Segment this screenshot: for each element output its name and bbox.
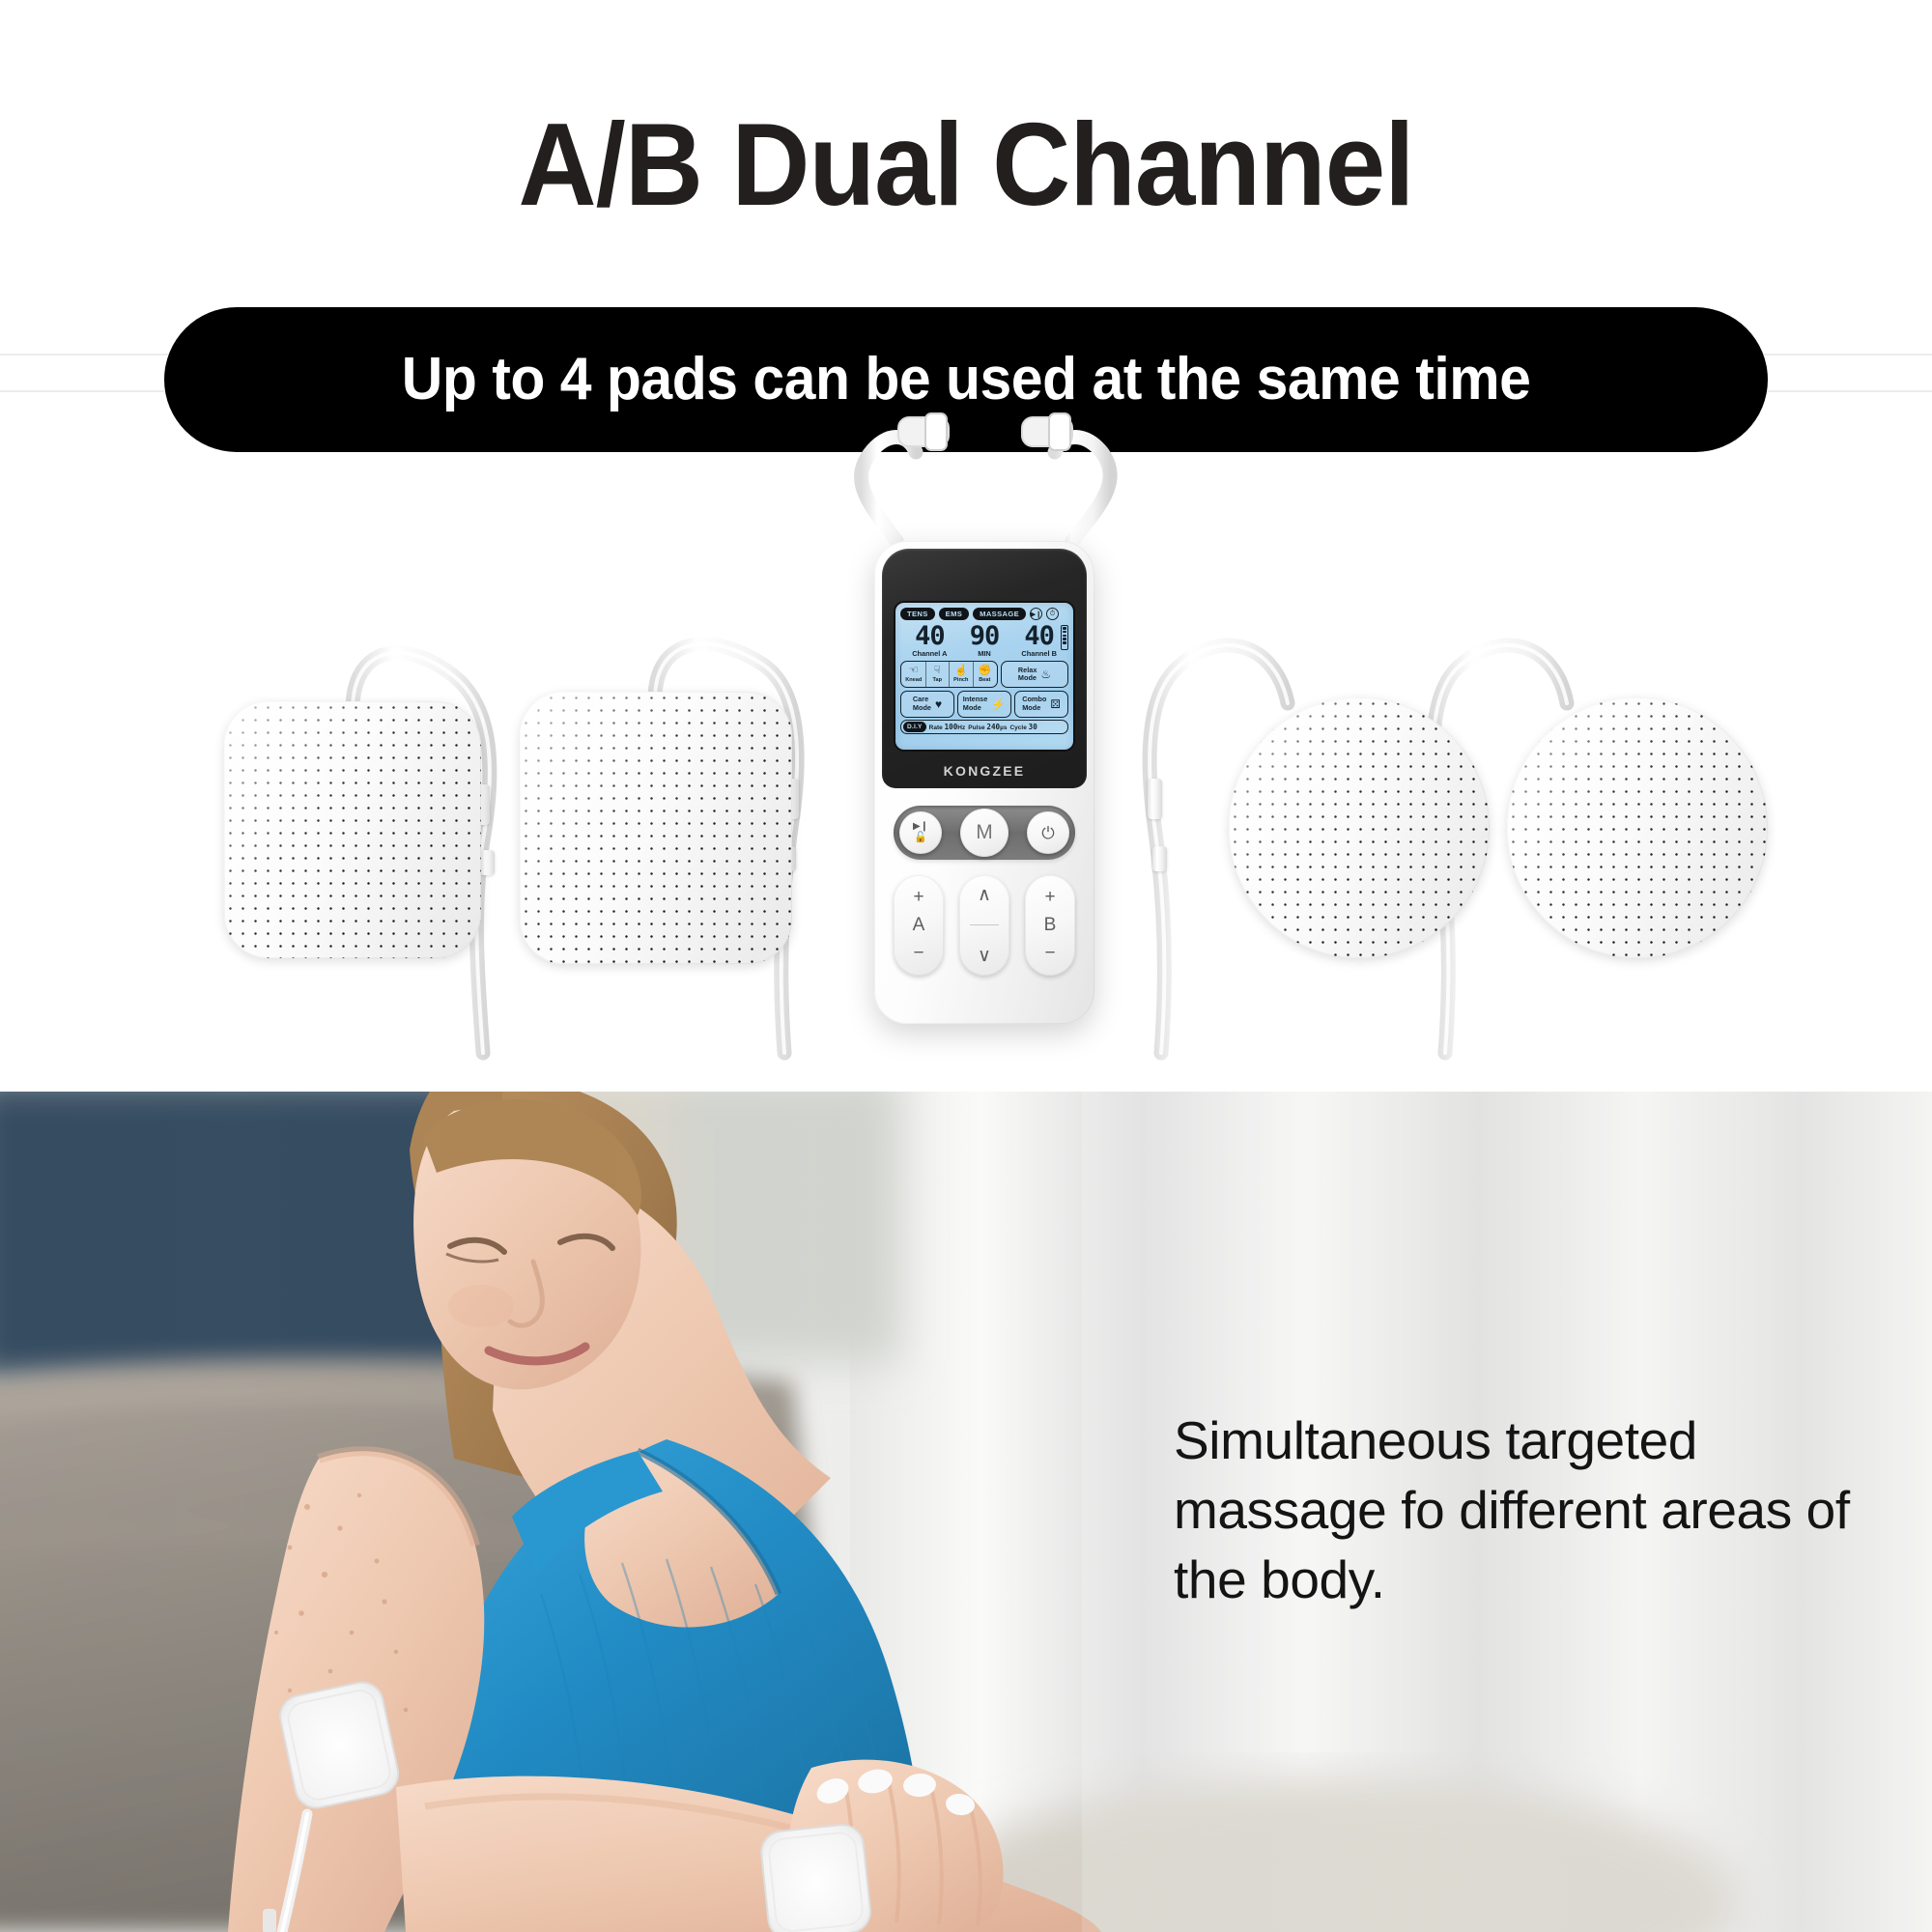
lcd-mode-row-2: Care Mode ♥ Intense Mode ⚡ (900, 691, 1068, 718)
channel-a-letter: A (913, 915, 925, 936)
lcd-mode-row: TENS EMS MASSAGE ▶❙ ⏱ (900, 608, 1068, 620)
tap-icon: ☟ (934, 666, 941, 676)
top-product-section: A/B Dual Channel Up to 4 pads can be use… (0, 0, 1932, 1092)
lcd-mode-row-1: ☜ Knead ☟ Tap ☝ Pinch (900, 661, 1068, 688)
channel-b-letter: B (1044, 915, 1057, 936)
wire-ferrule-2 (480, 850, 495, 875)
relax-mode-icon: ♨ (1040, 668, 1051, 680)
photo-caption: Simultaneous targeted massage fo differe… (1174, 1406, 1869, 1614)
combo-mode-label: Combo Mode (1022, 696, 1046, 712)
wire-ferrule-5 (1148, 779, 1162, 819)
heart-icon: ♥ (935, 698, 942, 710)
massage-type-knead: ☜ Knead (902, 662, 926, 687)
beat-label: Beat (979, 677, 990, 683)
lcd-mode-massage: MASSAGE (973, 608, 1026, 620)
diy-chip: D.I.Y (903, 722, 926, 732)
relax-mode-label: Relax Mode (1018, 667, 1037, 683)
readout-channel-b: 40 Channel B (1011, 623, 1066, 659)
power-icon: ⏻ (1041, 825, 1054, 841)
pulse-status: Pulse 240µs (968, 723, 1007, 731)
pulse-value: 240 (986, 723, 1000, 731)
intense-mode-box: Intense Mode ⚡ (957, 691, 1011, 718)
brand-logo: KONGZEE (882, 763, 1087, 779)
channel-a-plus[interactable]: + (913, 887, 923, 908)
play-pause-lock-button[interactable]: ▶❙ 🔓 (899, 811, 942, 854)
combo-mode-box: Combo Mode ⚄ (1014, 691, 1068, 718)
timer-icon: ⏱ (1046, 608, 1059, 620)
combo-circles-icon: ⚄ (1050, 698, 1060, 710)
rate-unit: Hz (957, 724, 965, 731)
channel-b-plus[interactable]: + (1044, 887, 1055, 908)
channel-b-stepper[interactable]: + B − (1025, 875, 1075, 976)
readout-channel-a: 40 Channel A (902, 623, 957, 659)
nav-divider (970, 924, 999, 925)
device-channel-button-row: + A − ∧ ∨ + B − (894, 875, 1075, 976)
beat-icon: ✊ (978, 666, 991, 676)
rate-label: Rate (929, 724, 943, 731)
channel-b-minus[interactable]: − (1044, 943, 1055, 964)
electrode-pad-square-2 (520, 692, 792, 964)
channel-a-minus[interactable]: − (913, 943, 923, 964)
knead-icon: ☜ (909, 666, 919, 676)
device-primary-button-bar: ▶❙ 🔓 M ⏻ (894, 806, 1075, 860)
electrode-pad-round-1 (1229, 697, 1490, 958)
massage-type-pinch: ☝ Pinch (950, 662, 974, 687)
nav-down-button[interactable]: ∨ (978, 945, 991, 967)
channel-a-stepper[interactable]: + A − (894, 875, 944, 976)
tens-unit-device: TENS EMS MASSAGE ▶❙ ⏱ 40 Channel A 90 (874, 541, 1094, 1024)
intense-mode-label: Intense Mode (963, 696, 988, 712)
cycle-value: 30 (1029, 723, 1037, 731)
lightning-icon: ⚡ (991, 698, 1006, 710)
relax-mode-line2: Mode (1018, 673, 1037, 682)
pulse-label: Pulse (968, 724, 984, 731)
knead-label: Knead (905, 677, 922, 683)
play-pause-icon: ▶❙ (1030, 608, 1042, 620)
wire-ferrule-6 (1152, 846, 1167, 871)
channel-a-label: Channel A (902, 649, 957, 659)
mode-button[interactable]: M (960, 809, 1009, 857)
lcd-mode-tens: TENS (900, 608, 935, 620)
lcd-mode-grid: ☜ Knead ☟ Tap ☝ Pinch (900, 661, 1068, 718)
tap-label: Tap (933, 677, 943, 683)
relax-mode-box: Relax Mode ♨ (1001, 661, 1068, 688)
massage-type-tap: ☟ Tap (926, 662, 951, 687)
care-mode-label: Care Mode (913, 696, 931, 712)
care-mode-box: Care Mode ♥ (900, 691, 954, 718)
rate-status: Rate 100Hz (929, 723, 966, 731)
channel-b-label: Channel B (1011, 649, 1066, 659)
battery-icon (1061, 625, 1068, 650)
play-pause-icon-small: ▶❙ (913, 822, 928, 832)
electrode-pad-square-1 (224, 701, 481, 958)
timer-value: 90 (957, 623, 1012, 649)
cycle-label: Cycle (1009, 724, 1026, 731)
combo-mode-line2: Mode (1022, 703, 1040, 712)
lcd-screen: TENS EMS MASSAGE ▶❙ ⏱ 40 Channel A 90 (895, 603, 1073, 750)
pulse-unit: µs (1000, 724, 1007, 731)
channel-b-value: 40 (1011, 623, 1066, 649)
readout-timer: 90 MIN (957, 623, 1012, 659)
pinch-icon: ☝ (954, 666, 968, 676)
timer-label: MIN (957, 649, 1012, 659)
product-marketing-page: A/B Dual Channel Up to 4 pads can be use… (0, 0, 1932, 1932)
device-display-bezel: TENS EMS MASSAGE ▶❙ ⏱ 40 Channel A 90 (882, 549, 1087, 788)
lock-icon: 🔓 (914, 833, 927, 843)
lcd-readout-row: 40 Channel A 90 MIN 40 Channel B (900, 623, 1068, 659)
nav-up-button[interactable]: ∧ (978, 884, 991, 906)
lcd-mode-ems: EMS (939, 608, 970, 620)
electrode-pad-round-2 (1507, 697, 1768, 958)
intense-mode-line2: Mode (963, 703, 981, 712)
navigation-stepper[interactable]: ∧ ∨ (959, 875, 1009, 976)
lcd-status-bar: D.I.Y Rate 100Hz Pulse 240µs Cycle 30 (900, 720, 1068, 734)
rate-value: 100 (945, 723, 958, 731)
pinch-label: Pinch (953, 677, 968, 683)
power-button[interactable]: ⏻ (1027, 811, 1069, 854)
massage-type-beat: ✊ Beat (974, 662, 997, 687)
care-mode-line2: Mode (913, 703, 931, 712)
channel-a-value: 40 (902, 623, 957, 649)
massage-type-group: ☜ Knead ☟ Tap ☝ Pinch (900, 661, 998, 688)
cycle-status: Cycle 30 (1009, 723, 1037, 731)
